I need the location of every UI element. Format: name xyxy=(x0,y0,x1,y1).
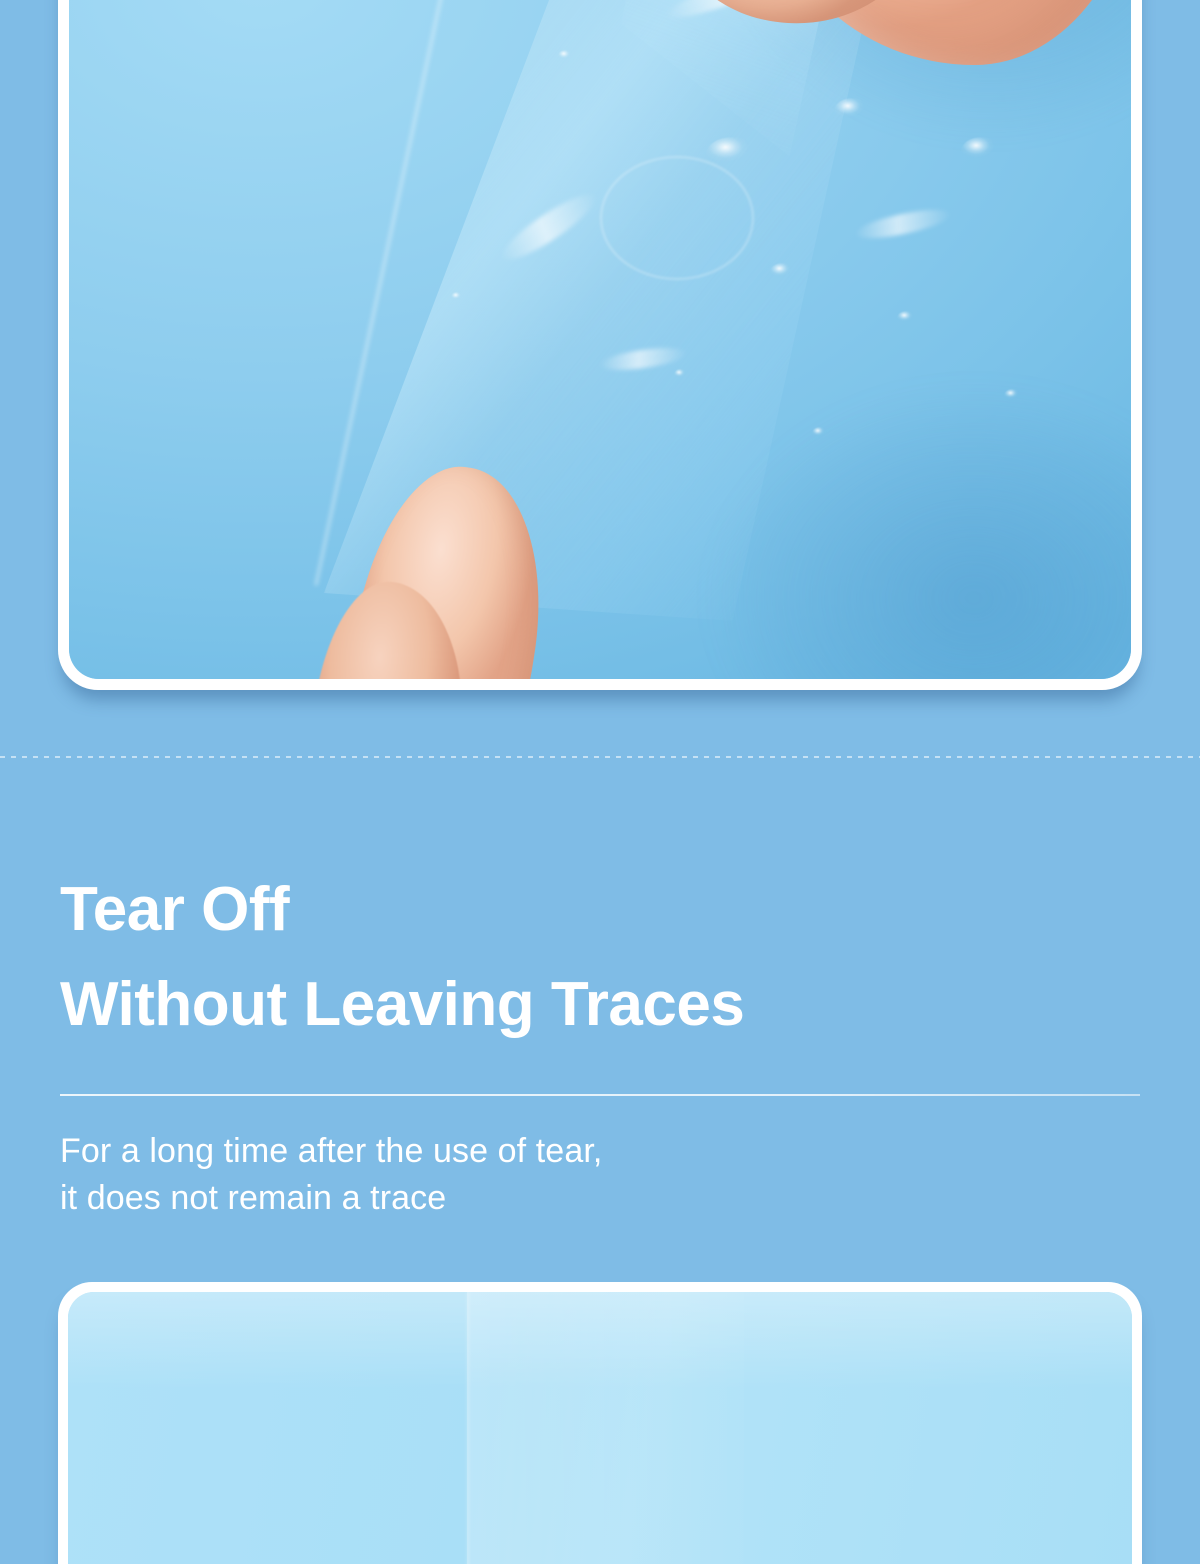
section-divider xyxy=(0,756,1200,758)
hand-peeling-film-photo xyxy=(69,0,1131,679)
water-ring-mark xyxy=(600,156,754,280)
water-droplet-icon xyxy=(770,263,796,281)
film-sheet-top-gloss xyxy=(68,1292,1132,1389)
water-droplet-icon xyxy=(961,137,1003,165)
water-droplet-icon xyxy=(558,50,574,62)
hand-pinch-icon xyxy=(664,0,1131,137)
subcopy: For a long time after the use of tear, i… xyxy=(60,1128,1140,1222)
headline-line-1: Tear Off xyxy=(60,862,1140,957)
subcopy-line-1: For a long time after the use of tear, xyxy=(60,1128,1140,1175)
feature-text-block: Tear Off Without Leaving Traces For a lo… xyxy=(60,862,1140,1222)
water-droplet-icon xyxy=(451,292,464,302)
bottom-photo-card xyxy=(58,1282,1142,1564)
top-photo-card xyxy=(58,0,1142,690)
water-droplet-icon xyxy=(1004,389,1022,402)
film-sheet-photo xyxy=(68,1292,1132,1564)
product-detail-page: Tear Off Without Leaving Traces For a lo… xyxy=(0,0,1200,1564)
headline-underline-rule xyxy=(60,1094,1140,1096)
headline-line-2: Without Leaving Traces xyxy=(60,957,1140,1052)
subcopy-line-2: it does not remain a trace xyxy=(60,1175,1140,1222)
